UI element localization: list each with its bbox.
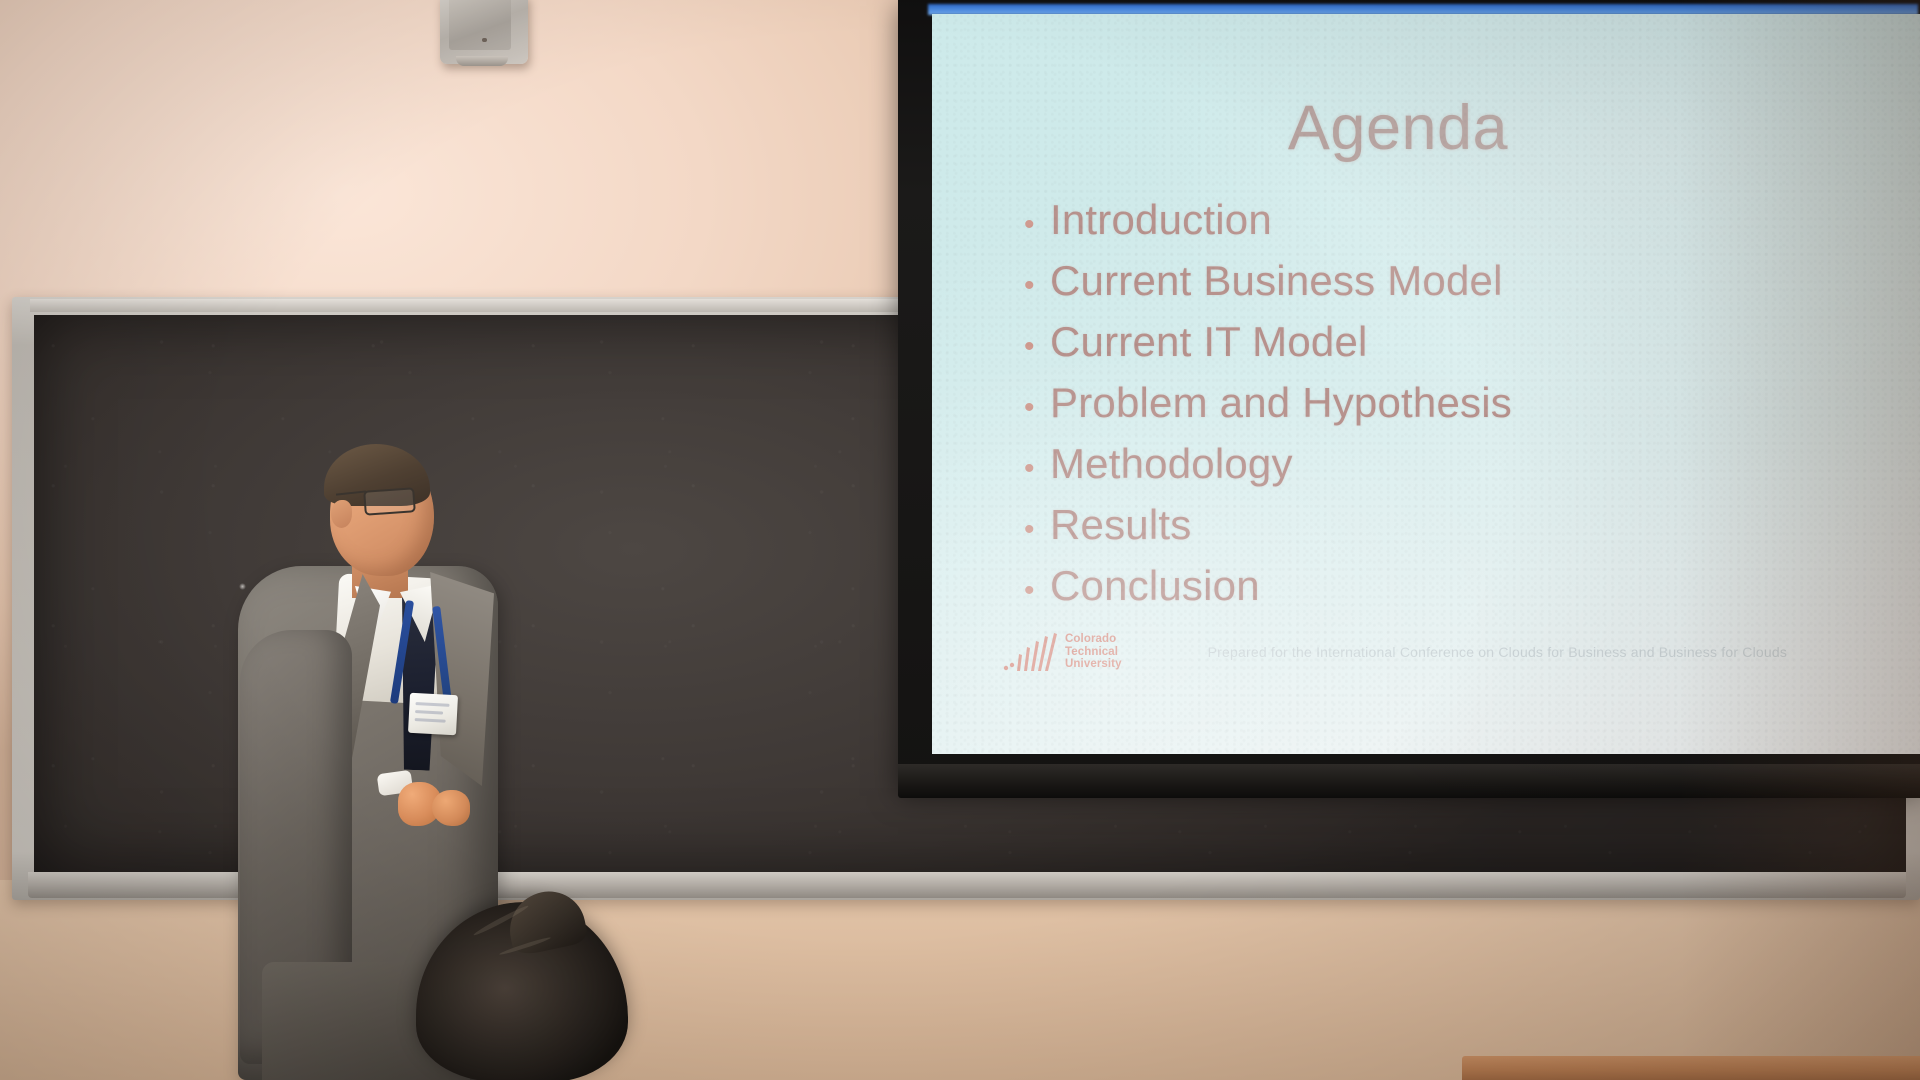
bullet-marker-icon: • (1024, 393, 1050, 423)
badge-text-line (415, 710, 443, 714)
agenda-item-current-business-model: • Current Business Model (1024, 257, 1844, 318)
agenda-item-conclusion: • Conclusion (1024, 562, 1844, 623)
presenter-hand-right (432, 790, 470, 826)
bullet-marker-icon: • (1024, 515, 1050, 545)
bullet-marker-icon: • (1024, 210, 1050, 240)
bullet-marker-icon: • (1024, 332, 1050, 362)
agenda-item-label: Problem and Hypothesis (1050, 379, 1512, 427)
wall-speaker-icon (440, 0, 528, 64)
agenda-item-label: Current Business Model (1050, 257, 1503, 305)
front-desk-edge (1462, 1056, 1920, 1080)
lecture-hall-photo: Agenda • Introduction • Current Business… (0, 0, 1920, 1080)
projection-screen-bottom-bar (898, 764, 1920, 798)
agenda-bullet-list: • Introduction • Current Business Model … (1024, 196, 1844, 623)
speaker-badge (482, 38, 487, 42)
bullet-marker-icon: • (1024, 454, 1050, 484)
slide-title: Agenda (932, 92, 1864, 164)
speaker-grille (449, 0, 511, 50)
presenter-glasses-icon (363, 487, 416, 515)
badge-text-line (415, 718, 446, 722)
slide-footer: Colorado Technical University Prepared f… (1002, 632, 1902, 672)
agenda-item-label: Methodology (1050, 440, 1293, 488)
agenda-item-results: • Results (1024, 501, 1844, 562)
agenda-item-label: Current IT Model (1050, 318, 1368, 366)
badge-text-line (415, 702, 449, 706)
presentation-slide: Agenda • Introduction • Current Business… (932, 14, 1920, 754)
agenda-item-current-it-model: • Current IT Model (1024, 318, 1844, 379)
ctu-logo-wordmark: Colorado Technical University (1065, 633, 1122, 671)
presenter-ear (331, 500, 352, 528)
bullet-marker-icon: • (1024, 271, 1050, 301)
agenda-item-label: Introduction (1050, 196, 1272, 244)
presenter-name-badge (408, 693, 458, 735)
ctu-logo-line-2: Technical (1065, 646, 1122, 659)
ctu-logo-line-1: Colorado (1065, 633, 1122, 646)
chalk-mark (239, 583, 246, 590)
ctu-fan-icon (1002, 632, 1060, 672)
agenda-item-label: Conclusion (1050, 562, 1260, 610)
colorado-technical-university-logo: Colorado Technical University (1002, 632, 1122, 672)
speaker-bracket (456, 56, 508, 66)
agenda-item-problem-and-hypothesis: • Problem and Hypothesis (1024, 379, 1844, 440)
ctu-logo-line-3: University (1065, 658, 1122, 671)
agenda-item-introduction: • Introduction (1024, 196, 1844, 257)
bullet-marker-icon: • (1024, 576, 1050, 606)
agenda-item-methodology: • Methodology (1024, 440, 1844, 501)
slide-footer-note: Prepared for the International Conferenc… (1208, 644, 1787, 660)
agenda-item-label: Results (1050, 501, 1191, 549)
